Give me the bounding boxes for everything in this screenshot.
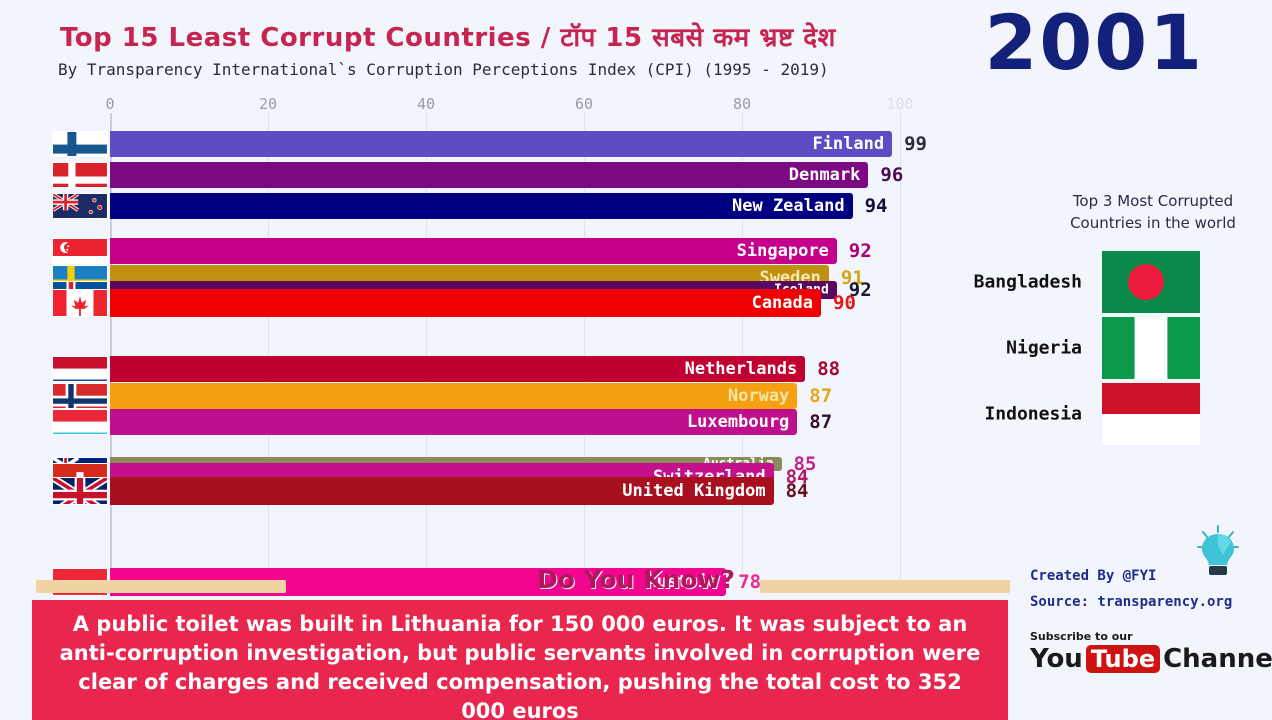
bar-label: Singapore: [737, 241, 829, 261]
bar-label: Norway: [728, 386, 789, 406]
bar-luxembourg[interactable]: Luxembourg: [110, 409, 797, 435]
youtube-tube-text: Tube: [1086, 645, 1160, 673]
created-by-label: Created By @FYI: [1030, 568, 1156, 584]
flag-indonesia-icon: [1102, 383, 1200, 445]
flag-luxembourg-icon: [52, 409, 108, 435]
bar-value: 96: [880, 164, 903, 186]
corrupted-country-name: Bangladesh: [974, 272, 1082, 293]
flag-singapore-icon: [52, 238, 108, 264]
x-axis-tick-20: 20: [259, 95, 277, 113]
bar-label: Luxembourg: [687, 412, 789, 432]
bar-canada[interactable]: Canada: [110, 289, 821, 317]
subscribe-small-text: Subscribe to our: [1030, 630, 1272, 643]
bar-label: New Zealand: [732, 196, 845, 216]
bar-value: 87: [809, 385, 832, 407]
bar-finland[interactable]: Finland: [110, 131, 892, 157]
flag-norway-icon: [52, 383, 108, 409]
fact-text: A public toilet was built in Lithuania f…: [54, 610, 986, 720]
bar-norway[interactable]: Norway: [110, 383, 797, 409]
bar-united-kingdom[interactable]: United Kingdom: [110, 477, 774, 505]
bar-singapore[interactable]: Singapore: [110, 238, 837, 264]
bar-new-zealand[interactable]: New Zealand: [110, 193, 853, 219]
corrupted-item-indonesia: Indonesia: [940, 383, 1200, 445]
flag-newzealand-icon: [52, 193, 108, 219]
x-axis-tick-40: 40: [417, 95, 435, 113]
youtube-channel-text: Channel: [1163, 644, 1272, 674]
fact-box: A public toilet was built in Lithuania f…: [32, 600, 1008, 720]
page-subtitle: By Transparency International`s Corrupti…: [58, 60, 829, 79]
most-corrupted-heading-line2: Countries in the world: [1053, 212, 1253, 234]
bar-value: 90: [833, 292, 856, 314]
flag-unitedkingdom-icon: [52, 477, 108, 505]
bar-label: Canada: [752, 293, 813, 313]
year-counter: 2001: [984, 0, 1204, 87]
bar-value: 84: [786, 480, 809, 502]
bar-label: Denmark: [789, 165, 861, 185]
corrupted-country-name: Nigeria: [1006, 338, 1082, 359]
x-axis-tick-0: 0: [105, 95, 114, 113]
bar-netherlands[interactable]: Netherlands: [110, 356, 805, 382]
flag-netherlands-icon: [52, 356, 108, 382]
bar-label: United Kingdom: [622, 481, 765, 501]
flag-finland-icon: [52, 131, 108, 157]
source-label: Source: transparency.org: [1030, 594, 1232, 610]
youtube-you-text: You: [1030, 644, 1083, 674]
bar-value: 88: [817, 358, 840, 380]
lightbulb-icon: [1195, 525, 1241, 581]
bar-denmark[interactable]: Denmark: [110, 162, 868, 188]
most-corrupted-heading: Top 3 Most Corrupted Countries in the wo…: [1053, 190, 1253, 234]
flag-denmark-icon: [52, 162, 108, 188]
x-axis-tick-60: 60: [575, 95, 593, 113]
corrupted-country-name: Indonesia: [984, 404, 1082, 425]
x-axis-tick-100: 100: [886, 95, 913, 113]
bar-value: 92: [849, 240, 872, 262]
page-title: Top 15 Least Corrupt Countries / टॉप 15 …: [60, 18, 836, 54]
x-axis-tick-80: 80: [733, 95, 751, 113]
flag-nigeria-icon: [1102, 317, 1200, 379]
bar-value: 99: [904, 133, 927, 155]
infographic-canvas: Top 15 Least Corrupt Countries / टॉप 15 …: [0, 0, 1272, 720]
flag-bangladesh-icon: [1102, 251, 1200, 313]
corrupted-item-bangladesh: Bangladesh: [940, 251, 1200, 313]
bar-label: Netherlands: [685, 359, 798, 379]
youtube-subscribe-badge[interactable]: Subscribe to our You Tube Channel: [1030, 630, 1272, 674]
most-corrupted-heading-line1: Top 3 Most Corrupted: [1053, 190, 1253, 212]
corrupted-item-nigeria: Nigeria: [940, 317, 1200, 379]
bar-value: 87: [809, 411, 832, 433]
bar-value: 94: [865, 195, 888, 217]
bar-label: Finland: [812, 134, 884, 154]
flag-canada-icon: [52, 289, 108, 317]
